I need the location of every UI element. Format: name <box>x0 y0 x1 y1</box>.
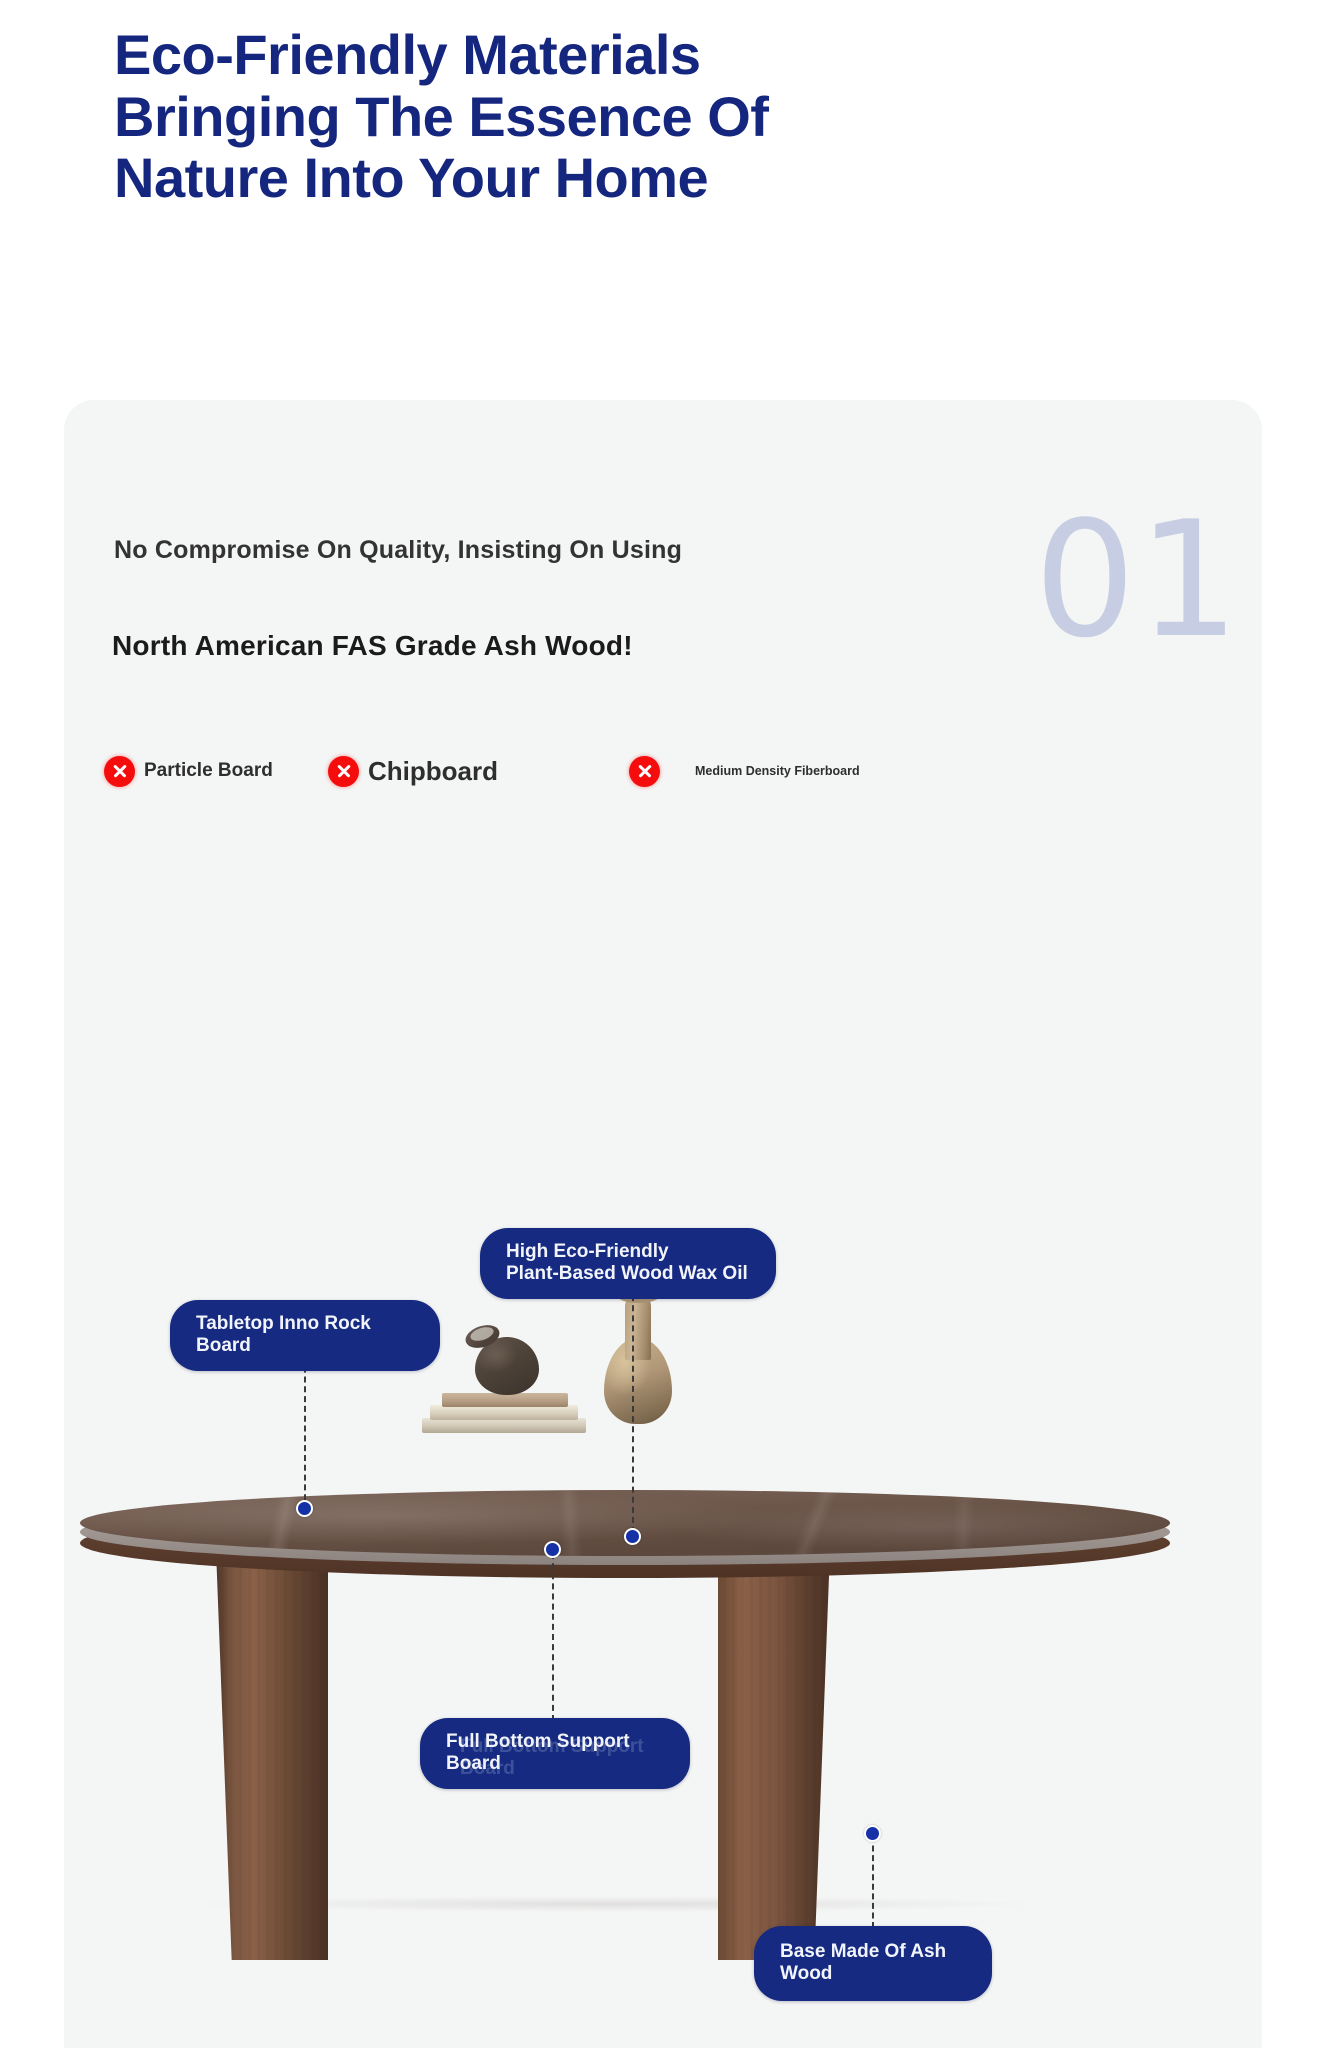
anchor-dot-tabletop <box>296 1500 313 1517</box>
tall-beige-vase-decor <box>604 1282 672 1424</box>
stone-veining <box>80 1490 1170 1556</box>
rejected-material-label: Medium Density Fiberboard <box>695 764 860 778</box>
card-subheading-secondary: North American FAS Grade Ash Wood! <box>112 630 633 662</box>
leader-line-tabletop <box>304 1347 306 1510</box>
leader-line-base <box>872 1836 874 1928</box>
leader-line-support <box>552 1553 554 1721</box>
rejected-material-item: Chipboard <box>328 748 498 794</box>
callout-base: Base Made Of Ash Wood <box>754 1926 992 2001</box>
rejected-materials-list: Particle Board Chipboard Medium Density … <box>104 748 1204 794</box>
book <box>430 1405 578 1420</box>
anchor-dot-support <box>544 1541 561 1558</box>
callout-wax-oil: High Eco-Friendly Plant-Based Wood Wax O… <box>480 1228 776 1299</box>
rejected-material-item: Medium Density Fiberboard <box>629 748 860 794</box>
feature-card: No Compromise On Quality, Insisting On U… <box>64 400 1262 2048</box>
callout-tabletop: Tabletop Inno Rock Board <box>170 1300 440 1371</box>
product-detail-page: Eco-Friendly Materials Bringing The Esse… <box>0 0 1322 2048</box>
rejected-material-label: Chipboard <box>368 756 498 787</box>
x-circle-icon <box>104 756 135 787</box>
table-leg-left <box>216 1550 328 1960</box>
book <box>442 1393 568 1407</box>
vase-neck <box>625 1296 651 1360</box>
page-title: Eco-Friendly Materials Bringing The Esse… <box>114 24 934 209</box>
anchor-dot-base <box>864 1825 881 1842</box>
rejected-material-label: Particle Board <box>144 760 273 782</box>
anchor-dot-wax <box>624 1528 641 1545</box>
rejected-material-item: Particle Board <box>104 748 273 794</box>
card-subheading-primary: No Compromise On Quality, Insisting On U… <box>114 536 682 565</box>
table-leg-right <box>718 1550 830 1960</box>
x-circle-icon <box>629 756 660 787</box>
product-stage <box>64 800 1262 2048</box>
book <box>422 1418 586 1433</box>
leader-line-wax <box>632 1275 634 1533</box>
step-number: 01 <box>1034 500 1242 660</box>
callout-support-board: Full Bottom Support Board <box>420 1718 690 1789</box>
wood-grain-texture <box>718 1550 830 1960</box>
x-circle-icon <box>328 756 359 787</box>
tabletop-surface <box>80 1490 1170 1556</box>
wood-grain-texture <box>216 1550 328 1960</box>
stacked-books-decor <box>422 1392 586 1434</box>
